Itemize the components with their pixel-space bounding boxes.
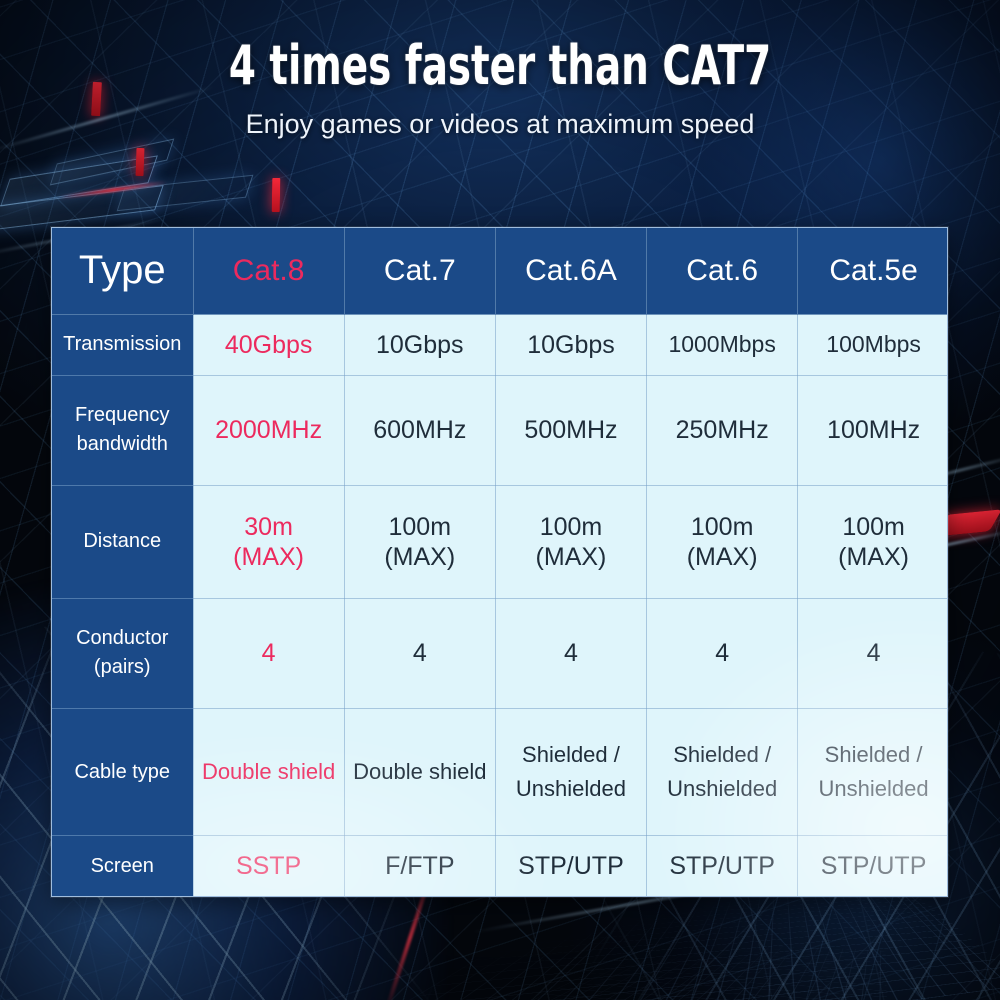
cell-transmission-cat8: 40Gbps xyxy=(193,314,344,375)
cell-frequency-cat8: 2000MHz xyxy=(193,375,344,485)
cell-value-line-2: (MAX) xyxy=(802,542,945,572)
column-header-type: Type xyxy=(52,228,193,314)
row-label-line-2: bandwidth xyxy=(56,430,189,459)
row-label-distance: Distance xyxy=(52,485,193,598)
column-header-cat7: Cat.7 xyxy=(344,228,495,314)
table-row: Cable type Double shield Double shield S… xyxy=(52,708,948,836)
cell-value-line-2: Unshielded xyxy=(651,772,793,806)
cell-frequency-cat7: 600MHz xyxy=(344,375,495,485)
column-header-cat5e: Cat.5e xyxy=(798,228,948,314)
row-label-screen: Screen xyxy=(52,836,193,896)
page-subtitle: Enjoy games or videos at maximum speed xyxy=(0,109,1000,140)
cell-screen-cat6: STP/UTP xyxy=(647,836,798,896)
comparison-table-container: Type Cat.8 Cat.7 Cat.6A Cat.6 Cat.5e Tra… xyxy=(51,227,948,897)
row-label-cable-type: Cable type xyxy=(52,708,193,836)
cell-frequency-cat6a: 500MHz xyxy=(495,375,646,485)
cell-value-line-2: (MAX) xyxy=(349,542,491,572)
cell-distance-cat6: 100m (MAX) xyxy=(647,485,798,598)
cable-comparison-table: Type Cat.8 Cat.7 Cat.6A Cat.6 Cat.5e Tra… xyxy=(52,228,948,896)
table-row: Conductor (pairs) 4 4 4 4 4 xyxy=(52,598,948,708)
cell-frequency-cat6: 250MHz xyxy=(647,375,798,485)
table-row: Transmission 40Gbps 10Gbps 10Gbps 1000Mb… xyxy=(52,314,948,375)
row-label-line-2: (pairs) xyxy=(56,653,189,682)
cell-transmission-cat7: 10Gbps xyxy=(344,314,495,375)
table-row: Screen SSTP F/FTP STP/UTP STP/UTP STP/UT… xyxy=(52,836,948,896)
column-header-cat6: Cat.6 xyxy=(647,228,798,314)
table-row: Frequency bandwidth 2000MHz 600MHz 500MH… xyxy=(52,375,948,485)
cell-conductor-cat7: 4 xyxy=(344,598,495,708)
cell-distance-cat7: 100m (MAX) xyxy=(344,485,495,598)
row-label-frequency-bandwidth: Frequency bandwidth xyxy=(52,375,193,485)
cell-conductor-cat5e: 4 xyxy=(798,598,948,708)
table-row: Distance 30m (MAX) 100m (MAX) 100m (MAX)… xyxy=(52,485,948,598)
cell-cabletype-cat8: Double shield xyxy=(193,708,344,836)
cell-value-line-2: Unshielded xyxy=(802,772,945,806)
cell-value-line-1: 100m xyxy=(651,512,793,542)
cell-cabletype-cat6a: Shielded / Unshielded xyxy=(495,708,646,836)
cell-cabletype-cat6: Shielded / Unshielded xyxy=(647,708,798,836)
row-label-line-1: Conductor xyxy=(56,624,189,653)
page-title: 4 times faster than CAT7 xyxy=(100,38,900,95)
cell-frequency-cat5e: 100MHz xyxy=(798,375,948,485)
cell-value-line-2: (MAX) xyxy=(651,542,793,572)
cell-transmission-cat6a: 10Gbps xyxy=(495,314,646,375)
cell-distance-cat6a: 100m (MAX) xyxy=(495,485,646,598)
cell-transmission-cat5e: 100Mbps xyxy=(798,314,948,375)
column-header-cat6a: Cat.6A xyxy=(495,228,646,314)
cell-conductor-cat6a: 4 xyxy=(495,598,646,708)
row-label-transmission: Transmission xyxy=(52,314,193,375)
cell-value-line-1: Shielded / xyxy=(500,738,642,772)
cell-value-line-2: Unshielded xyxy=(500,772,642,806)
cell-conductor-cat6: 4 xyxy=(647,598,798,708)
cell-transmission-cat6: 1000Mbps xyxy=(647,314,798,375)
cell-screen-cat7: F/FTP xyxy=(344,836,495,896)
cell-value-line-1: 30m xyxy=(198,512,340,542)
page-header: 4 times faster than CAT7 Enjoy games or … xyxy=(0,0,1000,140)
cell-value-line-1: 100m xyxy=(500,512,642,542)
cell-value-line-1: 100m xyxy=(802,512,945,542)
cell-value-line-1: Shielded / xyxy=(651,738,793,772)
cell-distance-cat5e: 100m (MAX) xyxy=(798,485,948,598)
cell-value-line-2: (MAX) xyxy=(500,542,642,572)
cell-distance-cat8: 30m (MAX) xyxy=(193,485,344,598)
cell-screen-cat6a: STP/UTP xyxy=(495,836,646,896)
cell-conductor-cat8: 4 xyxy=(193,598,344,708)
cell-screen-cat8: SSTP xyxy=(193,836,344,896)
row-label-line-1: Frequency xyxy=(56,401,189,430)
cell-value-line-1: Shielded / xyxy=(802,738,945,772)
table-header-row: Type Cat.8 Cat.7 Cat.6A Cat.6 Cat.5e xyxy=(52,228,948,314)
row-label-conductor-pairs: Conductor (pairs) xyxy=(52,598,193,708)
cell-value-line-2: (MAX) xyxy=(198,542,340,572)
cell-cabletype-cat5e: Shielded / Unshielded xyxy=(798,708,948,836)
cell-screen-cat5e: STP/UTP xyxy=(798,836,948,896)
cell-cabletype-cat7: Double shield xyxy=(344,708,495,836)
cell-value-line-1: 100m xyxy=(349,512,491,542)
column-header-cat8: Cat.8 xyxy=(193,228,344,314)
